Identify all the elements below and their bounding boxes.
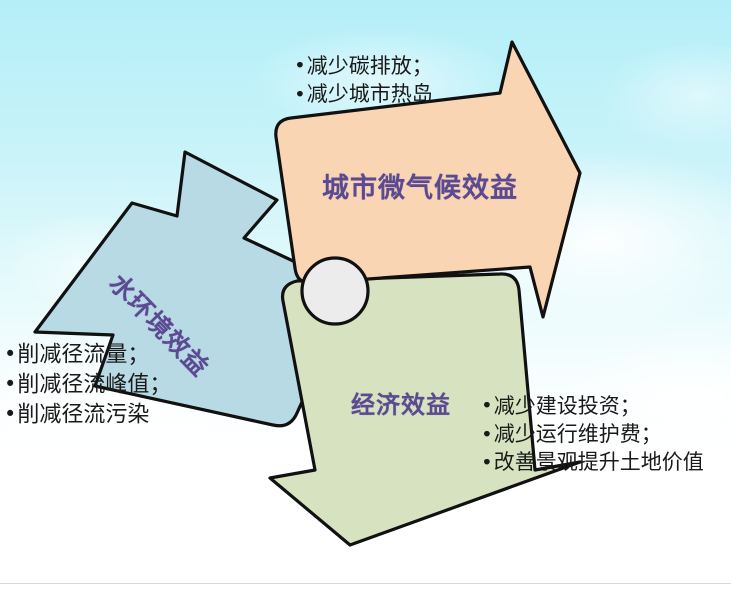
list-item: •减少建设投资； — [481, 392, 704, 420]
bullet-icon: • — [4, 400, 16, 428]
bullet-icon: • — [294, 81, 306, 108]
arrow-label-urban-microclimate: 城市微气候效益 — [322, 166, 518, 205]
bullet-icon: • — [481, 449, 493, 476]
bullet-icon: • — [481, 392, 493, 419]
bullet-list-right: •减少建设投资； •减少运行维护费； •改善景观提升土地价值 — [481, 392, 704, 476]
bullet-icon: • — [4, 340, 16, 368]
bullet-icon: • — [481, 421, 493, 448]
list-item-text: 削减径流量； — [17, 343, 149, 368]
list-item: •削减径流峰值； — [4, 370, 171, 400]
list-item: •改善景观提升土地价值 — [481, 448, 704, 476]
list-item: •减少城市热岛 — [294, 80, 433, 108]
list-item: •削减径流污染 — [4, 400, 171, 430]
bottom-rule — [0, 583, 731, 584]
list-item: •削减径流量； — [4, 340, 171, 370]
list-item-text: 改善景观提升土地价值 — [494, 450, 704, 474]
list-item-text: 削减径流峰值； — [17, 373, 171, 398]
list-item: •减少碳排放； — [294, 52, 433, 80]
list-item-text: 减少运行维护费； — [494, 422, 662, 446]
bullet-list-top: •减少碳排放； •减少城市热岛 — [294, 52, 433, 108]
bullet-list-left: •削减径流量； •削减径流峰值； •削减径流污染 — [4, 340, 171, 430]
list-item-text: 减少城市热岛 — [307, 82, 433, 106]
list-item-text: 减少碳排放； — [307, 54, 433, 78]
diagram-canvas: 城市微气候效益 水环境效益 经济效益 •减少碳排放； •减少城市热岛 •削减径流… — [0, 0, 731, 589]
list-item-text: 减少建设投资； — [494, 394, 641, 418]
bullet-icon: • — [294, 52, 306, 79]
list-item-text: 削减径流污染 — [17, 403, 149, 428]
hub-circle — [302, 258, 368, 324]
list-item: •减少运行维护费； — [481, 420, 704, 448]
arrow-label-economic: 经济效益 — [351, 385, 451, 420]
bullet-icon: • — [4, 370, 16, 398]
